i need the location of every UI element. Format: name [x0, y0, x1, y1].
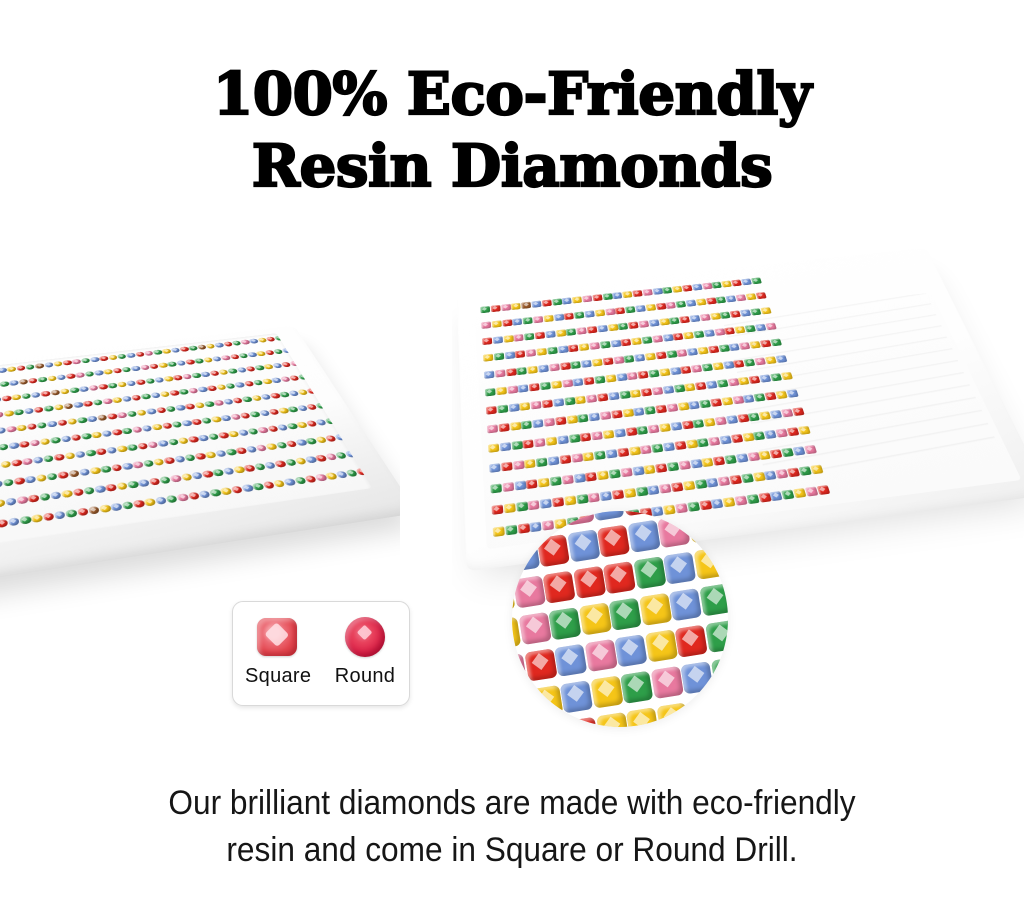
round-drill-bead — [81, 433, 92, 440]
square-drill-bead — [528, 500, 540, 510]
square-drill-bead — [532, 419, 543, 428]
round-drill-bead — [306, 388, 318, 394]
round-drill-bead — [63, 403, 73, 409]
square-drill-bead — [704, 329, 715, 337]
square-drill-gem-icon — [257, 618, 297, 656]
square-drill-bead — [496, 387, 507, 396]
square-drill-bead — [688, 401, 700, 410]
square-drill-bead-closeup — [524, 648, 557, 681]
round-drill-bead — [157, 440, 169, 447]
square-drill-bead — [542, 299, 552, 306]
square-drill-bead — [706, 478, 719, 488]
square-drill-bead — [645, 304, 656, 311]
square-drill-bead — [595, 309, 606, 316]
round-drill-bead — [111, 429, 122, 436]
square-drill-bead — [715, 416, 727, 425]
square-drill-bead — [659, 368, 670, 376]
square-drill-bead — [679, 316, 690, 324]
square-drill-bead — [673, 333, 684, 341]
square-drill-bead-closeup — [543, 571, 576, 604]
round-drill-bead — [64, 452, 75, 459]
square-drill-bead — [484, 371, 495, 379]
square-drill-bead — [564, 312, 574, 319]
square-drill-bead — [625, 427, 637, 436]
square-drill-bead — [558, 345, 569, 353]
square-drill-bead — [731, 434, 744, 443]
round-drill-bead — [83, 400, 93, 406]
square-drill-bead — [609, 469, 621, 479]
square-drill-bead — [687, 348, 698, 356]
square-drill-bead — [569, 434, 581, 443]
square-drill-bead-closeup — [669, 588, 702, 621]
tray-inner-right — [474, 258, 1021, 549]
square-drill-bead — [647, 485, 660, 495]
square-drill-bead — [740, 517, 753, 528]
square-drill-bead — [607, 324, 618, 332]
square-drill-bead — [554, 314, 564, 322]
square-drill-bead — [494, 549, 506, 550]
square-drill-bead — [659, 484, 672, 494]
square-drill-bead — [645, 353, 656, 361]
round-drill-bead — [127, 444, 138, 451]
square-drill-bead — [540, 498, 552, 508]
round-drill-bead — [90, 467, 102, 475]
square-drill-bead — [655, 405, 667, 414]
round-drill-bead — [355, 449, 368, 456]
square-drill-bead — [526, 479, 538, 489]
square-drill-bead — [529, 383, 540, 392]
square-drill-bead-closeup — [512, 726, 539, 727]
round-drill-bead — [31, 514, 43, 523]
square-drill-bead — [799, 509, 813, 519]
square-drill-bead — [616, 373, 627, 381]
square-drill-bead — [655, 303, 666, 310]
round-drill-bead — [54, 511, 66, 520]
square-drill-bead — [514, 334, 524, 342]
square-drill-bead — [682, 285, 693, 292]
square-drill-bead-closeup — [537, 534, 570, 567]
round-drill-bead — [57, 419, 68, 426]
round-drill-bead — [116, 445, 127, 452]
square-drill-bead — [543, 315, 553, 323]
square-drill-bead-closeup — [512, 539, 540, 572]
round-drill-bead — [94, 370, 104, 376]
round-drill-bead — [85, 449, 96, 456]
square-drill-bead — [708, 437, 720, 446]
square-drill-bead — [521, 420, 532, 429]
square-drill-bead — [711, 498, 724, 508]
square-drill-bead — [562, 475, 574, 485]
square-drill-bead-closeup — [512, 690, 533, 723]
square-drill-bead — [545, 330, 555, 338]
square-drill-bead — [770, 339, 782, 347]
square-drill-bead — [671, 482, 684, 492]
square-drill-bead — [480, 306, 490, 313]
round-drill-bead — [31, 392, 41, 398]
square-drill-bead — [612, 292, 622, 299]
round-drill-bead — [315, 402, 327, 408]
square-drill-bead — [572, 296, 582, 303]
square-drill-bead — [581, 360, 592, 368]
square-drill-bead — [592, 294, 602, 301]
round-drill-bead — [163, 457, 175, 464]
square-drill-bead — [741, 473, 754, 483]
square-drill-bead — [745, 293, 756, 300]
square-drill-bead — [523, 317, 533, 325]
square-drill-bead — [787, 468, 800, 478]
square-drill-bead — [559, 455, 571, 465]
square-drill-bead — [692, 284, 703, 291]
square-drill-bead — [780, 372, 792, 380]
square-drill-bead — [513, 460, 525, 470]
square-drill-bead — [493, 336, 503, 344]
square-drill-bead — [712, 362, 724, 370]
square-drill-bead — [713, 456, 726, 466]
square-drill-bead — [555, 416, 566, 425]
square-drill-bead — [662, 287, 673, 294]
square-drill-bead-closeup — [699, 583, 728, 616]
square-drill-bead — [696, 298, 707, 305]
square-drill-bead — [552, 298, 562, 305]
round-drill-bead — [283, 334, 294, 339]
caption-line-2: resin and come in Square or Round Drill. — [36, 827, 988, 874]
round-drill-bead — [40, 438, 51, 445]
round-drill-bead — [141, 393, 152, 399]
square-drill-bead — [538, 364, 549, 372]
square-drill-bead-closeup — [705, 620, 728, 653]
round-drill-bead — [21, 393, 31, 399]
square-drill-bead — [533, 316, 543, 324]
square-drill-bead — [592, 358, 603, 366]
square-drill-bead — [760, 307, 771, 314]
square-drill-bead — [625, 306, 636, 313]
round-drill-bead — [108, 355, 118, 361]
square-drill-bead — [681, 420, 693, 429]
legend-item-round[interactable]: Round — [333, 615, 397, 688]
round-drill-bead — [41, 391, 51, 397]
round-drill-bead — [28, 494, 40, 502]
square-drill-bead — [494, 352, 504, 360]
round-drill-bead — [33, 456, 44, 463]
round-drill-bead — [87, 415, 98, 422]
square-drill-bead — [669, 317, 680, 325]
square-drill-bead — [582, 295, 592, 302]
round-drill-bead — [110, 503, 122, 511]
bead-row — [0, 334, 294, 381]
square-drill-bead — [775, 391, 787, 400]
closeup-bead-field — [512, 511, 728, 727]
square-drill-bead — [685, 439, 697, 448]
square-drill-bead — [597, 325, 608, 333]
round-drill-bead — [117, 412, 128, 419]
round-drill-bead — [137, 442, 148, 449]
square-drill-bead — [583, 377, 594, 385]
square-drill-bead-closeup — [621, 511, 654, 516]
round-drill-bead — [83, 486, 95, 494]
square-drill-bead — [551, 380, 562, 388]
square-drill-bead — [755, 292, 766, 299]
square-drill-bead — [614, 428, 626, 437]
square-drill-bead — [662, 334, 673, 342]
square-drill-bead-closeup — [686, 698, 719, 727]
square-drill-bead — [641, 388, 653, 397]
square-drill-bead — [750, 308, 761, 315]
square-drill-bead — [624, 355, 635, 363]
square-drill-bead — [704, 418, 716, 427]
square-drill-bead — [571, 453, 583, 463]
square-drill-bead-closeup — [560, 680, 593, 713]
square-drill-bead — [690, 459, 703, 469]
round-drill-bead — [69, 387, 79, 393]
square-drill-bead — [621, 338, 632, 346]
round-drill-bead — [43, 512, 55, 521]
square-drill-bead — [667, 462, 679, 472]
round-drill-bead — [25, 364, 35, 370]
square-drill-bead — [631, 337, 642, 345]
round-drill-bead — [325, 418, 337, 425]
square-drill-bead — [632, 466, 644, 476]
square-drill-bead — [655, 463, 667, 473]
square-drill-bead-closeup — [626, 707, 659, 727]
square-drill-bead — [506, 368, 517, 376]
round-drill-bead — [101, 430, 112, 437]
square-drill-bead-closeup — [536, 722, 569, 727]
square-drill-bead — [754, 357, 766, 365]
square-drill-bead — [606, 449, 618, 459]
square-drill-bead — [770, 410, 782, 419]
round-drill-bead — [75, 451, 86, 458]
square-drill-bead — [744, 325, 755, 333]
square-drill-bead — [635, 305, 646, 312]
round-drill-bead — [122, 501, 134, 509]
round-drill-bead — [151, 424, 162, 431]
square-drill-bead — [816, 485, 830, 495]
square-drill-bead — [701, 363, 713, 371]
round-drill-bead — [146, 408, 157, 415]
round-drill-bead — [39, 493, 51, 501]
square-drill-bead-closeup — [554, 644, 587, 677]
square-drill-bead — [810, 465, 823, 475]
square-drill-bead-closeup — [561, 511, 594, 526]
square-drill-bead — [501, 304, 511, 311]
square-drill-bead — [605, 374, 616, 382]
square-drill-bead — [517, 367, 528, 375]
square-drill-bead — [716, 379, 728, 387]
square-drill-bead-closeup — [651, 511, 684, 512]
square-drill-bead — [677, 402, 689, 411]
square-drill-bead — [731, 279, 742, 286]
round-drill-bead — [6, 426, 16, 433]
square-gem-wrap — [245, 615, 309, 659]
square-drill-bead-closeup — [639, 593, 672, 626]
square-drill-bead — [649, 319, 660, 327]
round-drill-bead — [344, 432, 357, 439]
round-drill-bead — [135, 379, 145, 385]
square-drill-bead — [805, 487, 819, 497]
square-drill-bead — [652, 288, 663, 295]
square-drill-bead-closeup — [663, 552, 696, 585]
square-drill-bead — [550, 476, 562, 486]
square-drill-bead — [613, 356, 624, 364]
square-drill-bead — [490, 483, 502, 493]
square-drill-bead — [546, 437, 558, 446]
square-drill-bead-closeup — [531, 511, 564, 531]
round-drill-bead — [298, 359, 309, 365]
square-drill-bead — [535, 332, 545, 340]
square-drill-bead — [597, 470, 609, 480]
square-drill-bead-closeup — [596, 712, 629, 727]
title-line-1: 100% Eco-Friendly — [0, 58, 1024, 130]
square-drill-bead — [764, 514, 778, 525]
square-drill-bead-closeup — [603, 561, 636, 594]
round-drill-bead — [90, 357, 100, 363]
round-drill-bead — [148, 477, 160, 485]
round-drill-bead — [53, 404, 63, 410]
square-drill-bead — [615, 307, 626, 314]
round-drill-bead — [24, 408, 34, 415]
round-drill-bead — [14, 477, 25, 485]
square-drill-bead — [751, 277, 762, 284]
round-drill-bead — [121, 427, 132, 434]
round-drill-bead — [307, 373, 318, 379]
round-drill-bead — [37, 422, 47, 429]
square-drill-bead-closeup — [627, 520, 660, 553]
square-drill-bead — [674, 441, 686, 450]
square-drill-bead — [683, 332, 694, 340]
square-drill-bead — [755, 324, 766, 332]
square-drill-bead — [501, 462, 512, 472]
round-drill-bead — [79, 468, 90, 476]
square-drill-bead — [611, 410, 623, 419]
square-drill-bead-closeup — [609, 598, 642, 631]
square-drill-bead — [600, 411, 612, 420]
square-drill-bead — [684, 383, 696, 392]
square-drill-bead — [504, 351, 514, 359]
round-drill-bead — [282, 348, 293, 353]
square-drill-bead-closeup — [530, 685, 563, 718]
square-drill-bead — [655, 351, 666, 359]
round-drill-bead — [112, 397, 123, 403]
square-drill-bead — [600, 491, 612, 501]
square-drill-bead — [686, 299, 697, 306]
round-drill-bead — [28, 378, 38, 384]
round-drill-bead — [143, 459, 155, 467]
square-drill-bead — [730, 310, 741, 317]
square-drill-bead — [544, 418, 555, 427]
round-drill-bead — [81, 358, 91, 364]
square-drill-bead — [749, 341, 761, 349]
square-drill-bead — [587, 326, 598, 334]
round-drill-bead — [290, 361, 301, 367]
square-drill-bead — [648, 424, 660, 433]
round-drill-bead — [100, 465, 112, 473]
square-drill-bead — [694, 479, 707, 489]
square-drill-bead — [775, 428, 788, 437]
square-drill-bead-closeup — [567, 529, 600, 562]
square-drill-bead — [485, 388, 496, 397]
square-drill-bead — [670, 367, 681, 375]
square-drill-bead — [492, 504, 504, 514]
round-drill-bead — [61, 490, 73, 498]
round-drill-bead — [0, 381, 9, 387]
square-drill-bead — [652, 387, 664, 396]
drill-shape-legend: Square Round — [232, 601, 410, 706]
square-drill-bead — [683, 481, 696, 491]
square-drill-bead — [644, 406, 656, 415]
round-drill-bead — [144, 498, 156, 506]
round-drill-bead — [106, 446, 117, 453]
square-drill-bead — [507, 385, 518, 394]
round-drill-bead — [9, 442, 20, 449]
square-drill-bead — [734, 495, 747, 505]
square-drill-bead — [589, 412, 601, 421]
square-drill-bead — [585, 472, 597, 482]
round-drill-bead — [84, 371, 94, 377]
square-drill-bead — [515, 350, 526, 358]
square-drill-bead-closeup — [548, 607, 581, 640]
square-drill-bead — [553, 398, 564, 407]
square-drill-bead-closeup — [693, 547, 726, 580]
square-drill-bead — [746, 494, 759, 504]
square-drill-bead — [523, 439, 534, 448]
square-drill-bead — [708, 345, 719, 353]
square-drill-bead — [518, 384, 529, 393]
square-drill-bead — [798, 466, 811, 476]
square-drill-bead — [589, 342, 600, 350]
round-drill-bead — [36, 474, 47, 482]
square-drill-bead — [568, 344, 579, 352]
square-drill-bead — [514, 481, 526, 491]
round-drill-bead — [11, 394, 21, 400]
square-drill-bead — [781, 448, 794, 457]
round-drill-bead — [177, 493, 190, 501]
square-drill-bead — [540, 382, 551, 390]
round-drill-bead — [60, 388, 70, 394]
round-drill-bead — [20, 516, 32, 525]
round-drill-bead — [0, 499, 5, 507]
square-drill-bead — [486, 406, 497, 415]
square-drill-bead — [741, 278, 752, 285]
square-drill-bead — [594, 375, 605, 383]
round-drill-bead — [3, 478, 14, 486]
square-drill-bead — [786, 427, 799, 436]
square-drill-bead — [583, 452, 595, 462]
square-drill-bead — [566, 328, 577, 336]
round-drill-bead — [72, 359, 82, 365]
round-drill-bead — [334, 416, 346, 423]
square-drill-bead — [570, 361, 581, 369]
round-drill-bead — [79, 386, 89, 392]
square-drill-bead-closeup — [597, 525, 630, 558]
square-drill-bead — [697, 347, 708, 355]
square-drill-bead — [624, 488, 636, 498]
square-drill-bead — [781, 409, 794, 418]
square-drill-bead-closeup — [687, 511, 720, 543]
square-drill-bead — [706, 380, 718, 388]
square-drill-bead — [510, 422, 521, 431]
legend-item-square[interactable]: Square — [245, 615, 309, 688]
square-drill-bead — [566, 415, 577, 424]
square-drill-bead — [603, 430, 615, 439]
square-drill-bead — [678, 460, 690, 470]
square-drill-bead — [580, 432, 592, 441]
round-drill-bead — [98, 384, 108, 390]
square-drill-bead — [577, 414, 588, 423]
round-drill-bead — [107, 413, 118, 420]
round-drill-bead — [68, 470, 79, 478]
round-drill-bead — [16, 424, 26, 431]
square-drill-bead — [628, 321, 639, 329]
